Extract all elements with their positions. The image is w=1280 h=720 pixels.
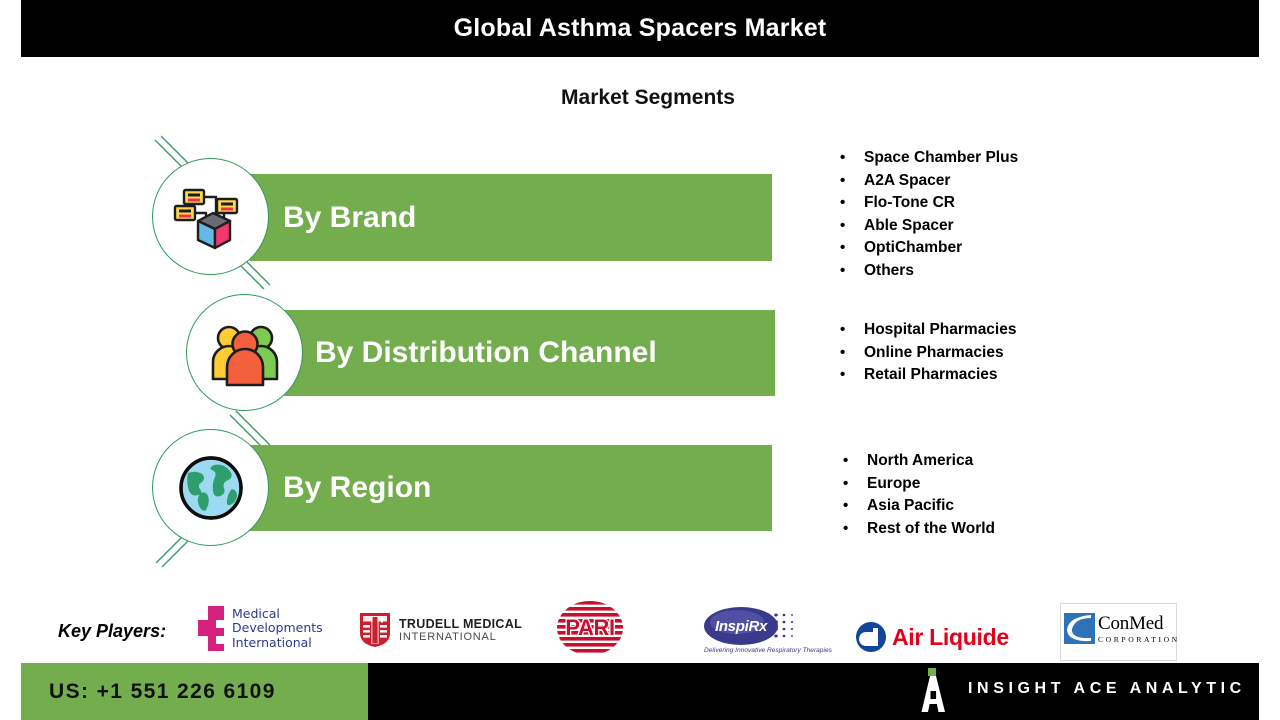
segment-icon-circle-brand <box>152 158 269 275</box>
list-item: • Space Chamber Plus <box>840 147 1018 170</box>
users-group-icon <box>205 317 285 389</box>
list-item-label: Europe <box>867 473 920 496</box>
segment-items-region: • North America • Europe • Asia Pacific … <box>843 450 995 540</box>
bullet-icon: • <box>843 495 867 518</box>
air-liquide-wordmark: Air Liquide <box>892 624 1009 651</box>
list-item-label: Rest of the World <box>867 518 995 541</box>
segment-bar-distribution-channel[interactable]: By Distribution Channel <box>283 310 775 396</box>
mdi-mark-icon <box>196 604 228 654</box>
bullet-icon: • <box>840 364 864 387</box>
conmed-sub-wordmark: CORPORATION <box>1098 635 1180 644</box>
logo-air-liquide[interactable]: Air Liquide <box>855 620 1009 654</box>
list-item: • OptiChamber <box>840 237 1018 260</box>
segment-icon-circle-distribution-channel <box>186 294 303 411</box>
bullet-icon: • <box>840 147 864 170</box>
bullet-icon: • <box>840 192 864 215</box>
segment-label-brand: By Brand <box>283 201 416 235</box>
section-subtitle-text: Market Segments <box>561 86 735 109</box>
bullet-icon: • <box>843 473 867 496</box>
logo-trudell-medical-international[interactable]: TRUDELL MEDICAL INTERNATIONAL <box>358 611 522 649</box>
list-item-label: Retail Pharmacies <box>864 364 998 387</box>
segment-icon-circle-region <box>152 429 269 546</box>
pari-wordmark: PARI <box>556 600 624 656</box>
list-item-label: Online Pharmacies <box>864 342 1004 365</box>
header-bar: Global Asthma Spacers Market <box>21 0 1259 57</box>
footer-contact-bar: US: +1 551 226 6109 <box>21 663 368 720</box>
key-players-label: Key Players: <box>58 621 166 642</box>
page-title: Global Asthma Spacers Market <box>454 14 827 43</box>
segment-label-region: By Region <box>283 471 431 505</box>
segment-bar-region[interactable]: By Region <box>250 445 772 531</box>
list-item: • Flo-Tone CR <box>840 192 1018 215</box>
list-item-label: Space Chamber Plus <box>864 147 1018 170</box>
footer-brand-wordmark: INSIGHT ACE ANALYTIC <box>968 680 1246 698</box>
trudell-shield-icon <box>358 611 392 649</box>
inspirx-tagline: Delivering Innovative Respiratory Therap… <box>704 647 832 654</box>
trudell-wordmark-line-1: TRUDELL MEDICAL <box>399 617 522 631</box>
segment-bar-brand[interactable]: By Brand <box>250 174 772 261</box>
pari-mark: PARI <box>556 600 624 656</box>
list-item-label: Flo-Tone CR <box>864 192 955 215</box>
trudell-wordmark-line-2: INTERNATIONAL <box>399 631 522 644</box>
bullet-icon: • <box>840 342 864 365</box>
bullet-icon: • <box>840 170 864 193</box>
list-item-label: Asia Pacific <box>867 495 954 518</box>
segment-items-brand: • Space Chamber Plus • A2A Spacer • Flo-… <box>840 147 1018 283</box>
conmed-mark-icon <box>1064 613 1095 644</box>
list-item-label: North America <box>867 450 973 473</box>
product-cube-network-icon <box>172 178 250 256</box>
mdi-wordmark: Medical Developments International <box>232 607 323 651</box>
list-item-label: Able Spacer <box>864 215 954 238</box>
list-item: • North America <box>843 450 995 473</box>
list-item: • Europe <box>843 473 995 496</box>
slide-canvas: Global Asthma Spacers Market Market Segm… <box>0 0 1280 720</box>
bullet-icon: • <box>840 260 864 283</box>
list-item: • Rest of the World <box>843 518 995 541</box>
footer-phone-number[interactable]: US: +1 551 226 6109 <box>49 680 276 704</box>
segment-label-distribution-channel: By Distribution Channel <box>315 336 657 370</box>
list-item: • A2A Spacer <box>840 170 1018 193</box>
bullet-icon: • <box>843 518 867 541</box>
list-item-label: A2A Spacer <box>864 170 950 193</box>
inspirx-wordmark: InspiRx <box>704 607 778 645</box>
bullet-icon: • <box>840 215 864 238</box>
logo-inspirx[interactable]: InspiRx Delivering Innovative Respirator… <box>704 607 800 655</box>
list-item: • Retail Pharmacies <box>840 364 1016 387</box>
list-item: • Asia Pacific <box>843 495 995 518</box>
conmed-wordmark: ConMed <box>1098 613 1180 635</box>
air-liquide-mark-icon <box>855 621 887 653</box>
mdi-line-2: Developments <box>232 621 323 636</box>
list-item-label: OptiChamber <box>864 237 962 260</box>
list-item: • Hospital Pharmacies <box>840 319 1016 342</box>
bullet-icon: • <box>840 319 864 342</box>
bullet-icon: • <box>843 450 867 473</box>
list-item: • Online Pharmacies <box>840 342 1016 365</box>
segment-items-distribution-channel: • Hospital Pharmacies • Online Pharmacie… <box>840 319 1016 387</box>
globe-icon <box>176 453 246 523</box>
list-item: • Able Spacer <box>840 215 1018 238</box>
logo-pari[interactable]: PARI <box>556 600 624 656</box>
mdi-line-1: Medical <box>232 607 323 622</box>
list-item-label: Others <box>864 260 914 283</box>
logo-conmed-corporation[interactable]: ConMed CORPORATION <box>1060 603 1177 661</box>
mdi-line-3: International <box>232 636 323 651</box>
bullet-icon: • <box>840 237 864 260</box>
section-subtitle: Market Segments <box>0 86 1280 110</box>
logo-medical-developments-international[interactable]: Medical Developments International <box>196 601 323 656</box>
list-item-label: Hospital Pharmacies <box>864 319 1016 342</box>
list-item: • Others <box>840 260 1018 283</box>
insight-ace-analytic-logo-icon <box>920 668 954 712</box>
